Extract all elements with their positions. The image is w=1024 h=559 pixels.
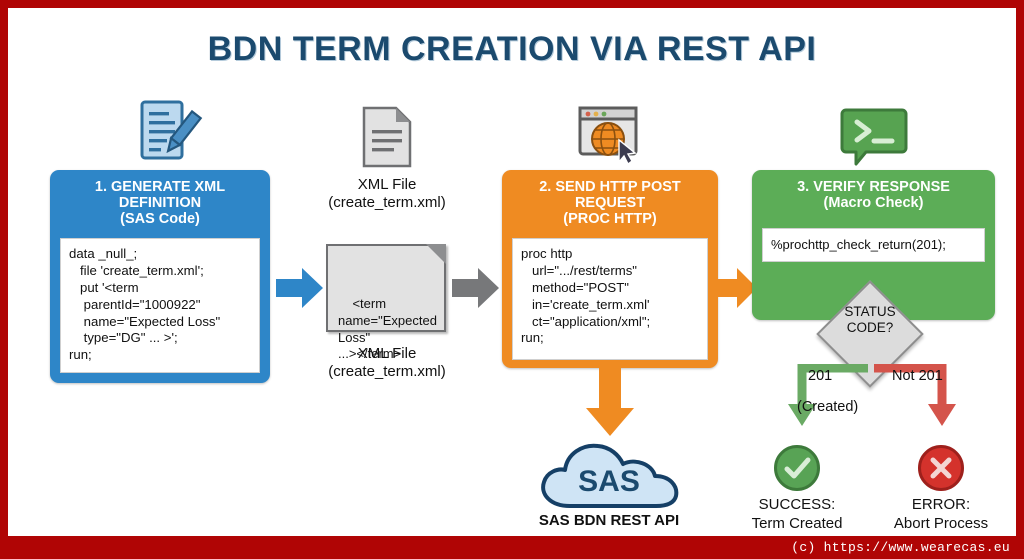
branch-sublabel-created: (Created): [797, 399, 858, 415]
arrow-artifact-to-stage2: [452, 266, 500, 310]
document-with-pen-icon: [130, 100, 206, 164]
arrow-stage2-to-cloud: [583, 360, 637, 438]
page-fold-corner: [426, 244, 446, 264]
check-circle-icon: [774, 445, 820, 491]
sas-cloud-icon: SAS: [536, 438, 682, 510]
xml-document-icon: [360, 106, 414, 168]
decision-label: STATUS CODE?: [832, 304, 908, 336]
image-frame: BDN TERM CREATION VIA REST API 1. GENERA…: [0, 0, 1024, 559]
outcome-success-label: SUCCESS: Term Created: [722, 496, 872, 534]
stage-1-heading: 1. GENERATE XML DEFINITION (SAS Code): [50, 170, 270, 234]
artifact-caption-top: XML File (create_term.xml): [306, 176, 468, 213]
arrow-stage1-to-artifact: [276, 266, 324, 310]
xml-content-box: <term name="Expected Loss" ...></term>: [326, 244, 446, 332]
branch-label-not-201: Not 201: [892, 368, 943, 384]
stage-3-heading: 3. VERIFY RESPONSE (Macro Check): [752, 170, 995, 217]
stage-2-code: proc http url=".../rest/terms" method="P…: [512, 238, 708, 360]
stage-1-panel[interactable]: 1. GENERATE XML DEFINITION (SAS Code) da…: [50, 170, 270, 383]
terminal-prompt-icon: [840, 106, 908, 168]
cloud-label: SAS: [578, 465, 640, 498]
x-circle-icon: [918, 445, 964, 491]
branch-label-201: 201: [808, 368, 832, 384]
browser-globe-cursor-icon: [574, 104, 646, 166]
page-title: BDN TERM CREATION VIA REST API: [8, 30, 1016, 69]
stage-2-panel[interactable]: 2. SEND HTTP POST REQUEST (PROC HTTP) pr…: [502, 170, 718, 368]
stage-3-code: %prochttp_check_return(201);: [762, 228, 985, 262]
stage-2-heading: 2. SEND HTTP POST REQUEST (PROC HTTP): [502, 170, 718, 234]
cloud-caption: SAS BDN REST API: [524, 512, 694, 530]
watermark: (c) https://www.wearecas.eu: [0, 536, 1024, 559]
stage-1-code: data _null_; file 'create_term.xml'; put…: [60, 238, 260, 373]
diagram-canvas: BDN TERM CREATION VIA REST API 1. GENERA…: [8, 8, 1016, 536]
artifact-caption-bottom: XML File (create_term.xml): [306, 345, 468, 382]
outcome-error-label: ERROR: Abort Process: [866, 496, 1016, 534]
